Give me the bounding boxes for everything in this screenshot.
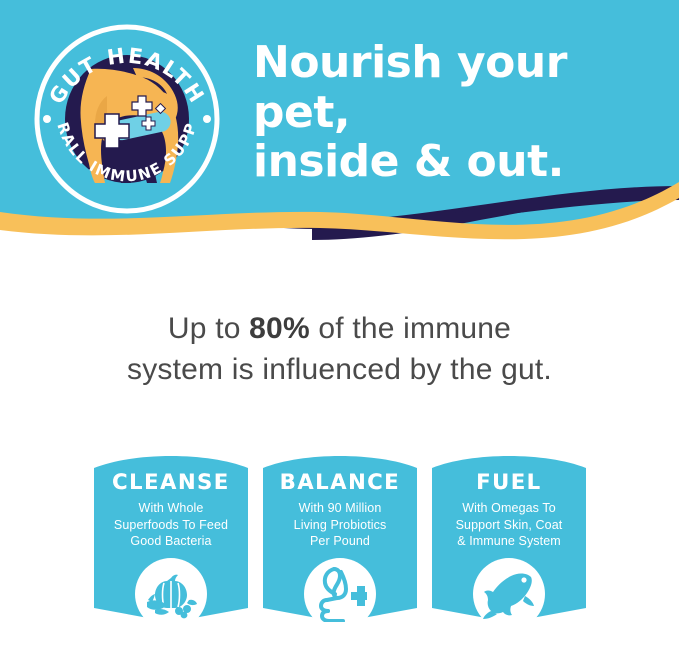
card-desc-line: Per Pound xyxy=(269,533,411,550)
plus-badge-icon xyxy=(351,586,367,606)
badge-dot-right xyxy=(203,115,211,123)
benefit-card-fuel[interactable]: FUEL With Omegas To Support Skin, Coat &… xyxy=(432,450,586,646)
card-description: With Omegas To Support Skin, Coat & Immu… xyxy=(438,500,580,550)
benefit-cards: CLEANSE With Whole Superfoods To Feed Go… xyxy=(94,450,586,646)
card-description: With 90 Million Living Probiotics Per Po… xyxy=(269,500,411,550)
card-desc-line: Good Bacteria xyxy=(100,533,242,550)
card-title: FUEL xyxy=(438,472,580,493)
statement-prefix: Up to xyxy=(168,312,249,345)
statement-line-1: Up to 80% of the immune xyxy=(0,308,679,349)
benefit-card-cleanse[interactable]: CLEANSE With Whole Superfoods To Feed Go… xyxy=(94,450,248,646)
immune-statement: Up to 80% of the immune system is influe… xyxy=(0,308,679,391)
statement-suffix: of the immune xyxy=(310,312,511,345)
headline-line-2: inside & out. xyxy=(253,137,673,187)
gut-health-badge: GUT HEALTH OVERALL IMMUNE SUPPORT xyxy=(33,24,221,214)
hero-header: GUT HEALTH OVERALL IMMUNE SUPPORT Nouris… xyxy=(0,0,679,262)
card-description: With Whole Superfoods To Feed Good Bacte… xyxy=(100,500,242,550)
headline-line-1: Nourish your pet, xyxy=(253,37,567,138)
hero-headline: Nourish your pet, inside & out. xyxy=(253,38,673,187)
badge-dot-left xyxy=(43,115,51,123)
card-desc-line: Living Probiotics xyxy=(269,517,411,534)
card-desc-line: & Immune System xyxy=(438,533,580,550)
card-desc-line: With Omegas To xyxy=(438,500,580,517)
card-desc-line: With 90 Million xyxy=(269,500,411,517)
card-title: CLEANSE xyxy=(100,472,242,493)
pumpkin-vegetables-icon xyxy=(135,558,207,630)
card-title: BALANCE xyxy=(269,472,411,493)
statement-percent: 80% xyxy=(249,312,310,345)
card-desc-line: With Whole xyxy=(100,500,242,517)
benefit-card-balance[interactable]: BALANCE With 90 Million Living Probiotic… xyxy=(263,450,417,646)
salmon-fish-icon xyxy=(473,558,545,630)
card-text-block: CLEANSE With Whole Superfoods To Feed Go… xyxy=(94,450,248,550)
card-text-block: FUEL With Omegas To Support Skin, Coat &… xyxy=(432,450,586,550)
card-text-block: BALANCE With 90 Million Living Probiotic… xyxy=(263,450,417,550)
card-desc-line: Support Skin, Coat xyxy=(438,517,580,534)
statement-line-2: system is influenced by the gut. xyxy=(0,349,679,390)
card-desc-line: Superfoods To Feed xyxy=(100,517,242,534)
infographic-page: GUT HEALTH OVERALL IMMUNE SUPPORT Nouris… xyxy=(0,0,679,646)
stomach-intestine-plus-icon xyxy=(304,558,376,630)
